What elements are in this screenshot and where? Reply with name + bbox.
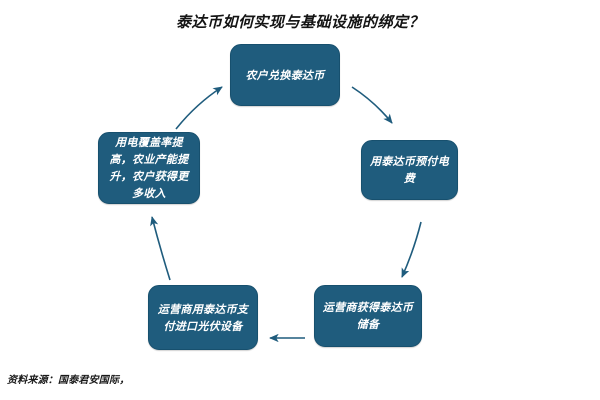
node-label: 运营商用泰达币支付进口光伏设备 [149,301,257,335]
node-label: 用泰达币预付电费 [362,153,457,187]
arrow-bottomleft-to-left [152,217,170,280]
node-prepay-electricity-with-usdt[interactable]: 用泰达币预付电费 [361,140,458,200]
source-note: 资料来源：国泰君安国际， [7,371,129,386]
node-operator-pays-solar-equipment[interactable]: 运营商用泰达币支付进口光伏设备 [148,285,258,350]
node-label: 农户兑换泰达币 [238,67,331,84]
node-farmer-exchange-usdt[interactable]: 农户兑换泰达币 [230,44,340,106]
node-label: 用电覆盖率提高，农业产能提升，农户获得更多收入 [99,134,199,202]
page-title: 泰达币如何实现与基础设施的绑定？ [0,11,600,32]
arrow-left-to-top [176,87,222,129]
node-coverage-and-income-growth[interactable]: 用电覆盖率提高，农业产能提升，农户获得更多收入 [98,132,200,204]
diagram-canvas: 泰达币如何实现与基础设施的绑定？ 农户兑换泰达币 用泰达币预付电费 运营商获得泰… [0,0,600,400]
arrow-top-to-right [352,87,392,123]
arrow-right-to-bottomright [402,222,421,277]
node-label: 运营商获得泰达币储备 [315,299,421,333]
node-operator-gains-usdt-reserve[interactable]: 运营商获得泰达币储备 [314,285,422,347]
